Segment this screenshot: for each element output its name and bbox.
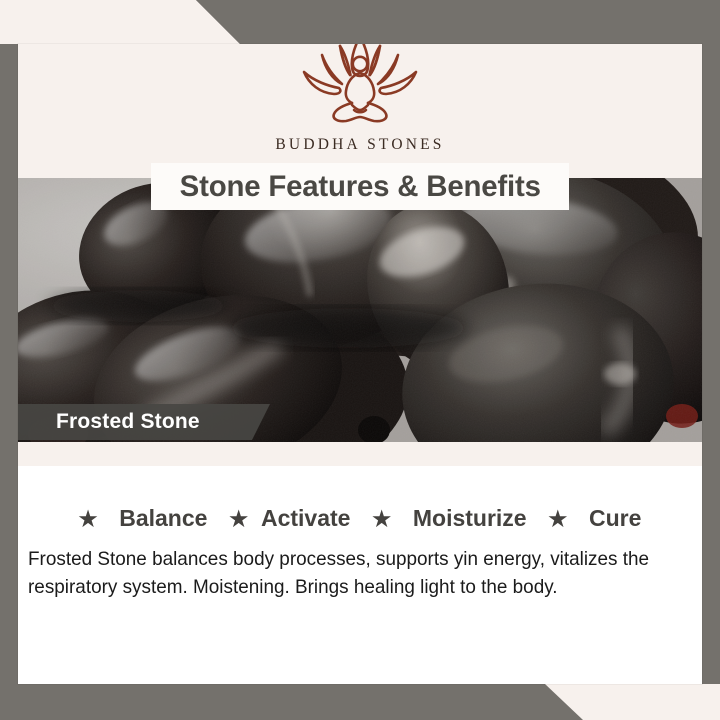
description-line-2: respiratory system. Moistening. Brings h…	[28, 574, 672, 602]
cream-divider-strip	[18, 442, 702, 466]
brand-name: BUDDHA STONES	[275, 136, 444, 154]
benefit-item-2: Moisturize	[413, 505, 527, 531]
photo-caption-label: Frosted Stone	[18, 410, 200, 434]
star-icon-1: ★	[79, 508, 98, 531]
body-section: ★ Balance ★ Activate ★ Moisturize ★ Cure…	[18, 442, 702, 684]
benefit-item-3: Cure	[589, 505, 641, 531]
frame-left-border	[0, 0, 18, 720]
benefit-item-1: Activate	[261, 505, 350, 531]
brand-logo: BUDDHA STONES	[18, 44, 702, 154]
brand-header: BUDDHA STONES	[18, 44, 702, 178]
star-icon-4: ★	[548, 508, 567, 531]
star-icon-3: ★	[372, 508, 391, 531]
description-line-1: Frosted Stone balances body processes, s…	[28, 546, 672, 574]
stone-photo	[18, 178, 702, 442]
benefit-item-0: Balance	[119, 505, 207, 531]
content-card: BUDDHA STONES	[18, 44, 702, 684]
title-banner: Stone Features & Benefits	[151, 163, 569, 210]
benefits-list: ★ Balance ★ Activate ★ Moisturize ★ Cure	[18, 505, 702, 532]
page-title: Stone Features & Benefits	[179, 170, 540, 204]
description-text: Frosted Stone balances body processes, s…	[28, 546, 692, 601]
frame-right-border	[702, 0, 720, 720]
lotus-meditation-figure-icon	[284, 44, 436, 135]
infographic-page: BUDDHA STONES	[0, 0, 720, 720]
star-icon-2: ★	[229, 508, 248, 531]
photo-caption-tag: Frosted Stone	[18, 404, 270, 440]
